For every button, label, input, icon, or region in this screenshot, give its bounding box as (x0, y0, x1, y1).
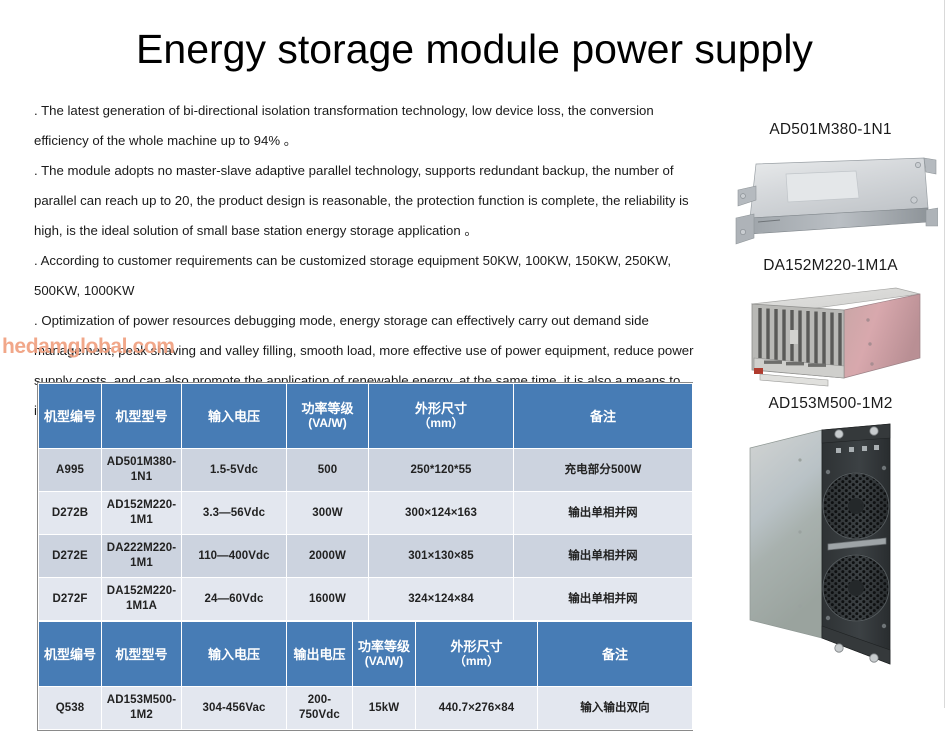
product-photo-ad153m500 (712, 416, 949, 678)
column-header-main: 输入电压 (208, 409, 260, 424)
description-paragraph: . The latest generation of bi-directiona… (34, 96, 706, 156)
column-header-sub: （mm） (418, 654, 535, 669)
product-label: DA152M220-1M1A (712, 254, 949, 278)
column-header: 备注 (514, 384, 693, 449)
column-header: 输入电压 (182, 622, 287, 687)
cell-model-code: D272B (39, 492, 102, 535)
cell-power-rating: 15kW (353, 687, 416, 730)
column-header-sub: (VA/W) (289, 416, 366, 431)
description-block: . The latest generation of bi-directiona… (34, 96, 706, 426)
column-header: 输出电压 (287, 622, 353, 687)
cell-power-rating: 1600W (287, 578, 369, 621)
cell-dimensions: 301×130×85 (369, 535, 514, 578)
product-item: AD501M380-1N1 (712, 118, 949, 252)
column-header: 外形尺寸 （mm） (416, 622, 538, 687)
column-header-sub: (VA/W) (355, 654, 413, 669)
column-header-main: 机型编号 (44, 647, 96, 662)
column-header: 功率等级 (VA/W) (353, 622, 416, 687)
cell-dimensions: 324×124×84 (369, 578, 514, 621)
column-header-main: 机型型号 (115, 647, 167, 662)
spec-table-two: 机型编号 机型型号 输入电压 输出电压 功率等级 (VA/W) (38, 621, 693, 730)
cell-model-type: AD501M380-1N1 (102, 449, 182, 492)
cell-dimensions: 250*120*55 (369, 449, 514, 492)
description-paragraph: . The module adopts no master-slave adap… (34, 156, 706, 246)
cell-remarks: 输出单相并网 (514, 492, 693, 535)
table-header-row: 机型编号 机型型号 输入电压 功率等级 (VA/W) 外形尺寸 （mm (39, 384, 693, 449)
product-photo-ad501m380 (712, 142, 949, 252)
cell-input-voltage: 24—60Vdc (182, 578, 287, 621)
column-header-main: 备注 (602, 647, 628, 662)
product-photo-da152m220 (712, 278, 949, 390)
column-header-main: 机型编号 (44, 409, 96, 424)
cell-remarks: 充电部分500W (514, 449, 693, 492)
cell-input-voltage: 1.5-5Vdc (182, 449, 287, 492)
cell-dimensions: 300×124×163 (369, 492, 514, 535)
column-header-main: 功率等级 (358, 639, 410, 654)
product-gallery: AD501M380-1N1 (712, 118, 949, 680)
column-header-main: 外形尺寸 (415, 401, 467, 416)
product-item: DA152M220-1M1A (712, 254, 949, 390)
column-header: 输入电压 (182, 384, 287, 449)
product-label: AD153M500-1M2 (712, 392, 949, 416)
cell-model-type: AD153M500-1M2 (102, 687, 182, 730)
column-header-main: 备注 (590, 409, 616, 424)
cell-model-type: DA222M220-1M1 (102, 535, 182, 578)
table-row: Q538 AD153M500-1M2 304-456Vac 200-750Vdc… (39, 687, 693, 730)
cell-dimensions: 440.7×276×84 (416, 687, 538, 730)
cell-power-rating: 300W (287, 492, 369, 535)
cell-input-voltage: 110—400Vdc (182, 535, 287, 578)
cell-input-voltage: 3.3—56Vdc (182, 492, 287, 535)
cell-model-code: D272E (39, 535, 102, 578)
cell-remarks: 输出单相并网 (514, 578, 693, 621)
column-header: 功率等级 (VA/W) (287, 384, 369, 449)
column-header-main: 输出电压 (293, 647, 345, 662)
column-header: 外形尺寸 （mm） (369, 384, 514, 449)
cell-power-rating: 500 (287, 449, 369, 492)
cell-model-code: D272F (39, 578, 102, 621)
column-header-main: 机型型号 (115, 409, 167, 424)
column-header: 机型型号 (102, 622, 182, 687)
table-row: D272E DA222M220-1M1 110—400Vdc 2000W 301… (39, 535, 693, 578)
spec-table-one: 机型编号 机型型号 输入电压 功率等级 (VA/W) 外形尺寸 （mm (38, 383, 693, 621)
spec-tables: 机型编号 机型型号 输入电压 功率等级 (VA/W) 外形尺寸 （mm (37, 382, 693, 731)
product-item: AD153M500-1M2 (712, 392, 949, 678)
table-header-row: 机型编号 机型型号 输入电压 输出电压 功率等级 (VA/W) (39, 622, 693, 687)
column-header-main: 输入电压 (208, 647, 260, 662)
cell-model-code: A995 (39, 449, 102, 492)
right-edge-divider (944, 0, 945, 708)
cell-model-type: DA152M220-1M1A (102, 578, 182, 621)
rectifier-module-image (724, 286, 939, 390)
column-header-main: 功率等级 (301, 401, 353, 416)
cell-model-type: AD152M220-1M1 (102, 492, 182, 535)
fan-front-module-image (722, 420, 940, 672)
column-header-sub: （mm） (371, 416, 511, 431)
product-label: AD501M380-1N1 (712, 118, 949, 142)
rack-tray-module-image (728, 156, 938, 251)
cell-remarks: 输出单相并网 (514, 535, 693, 578)
column-header: 机型编号 (39, 622, 102, 687)
page-title: Energy storage module power supply (0, 26, 949, 73)
table-row: A995 AD501M380-1N1 1.5-5Vdc 500 250*120*… (39, 449, 693, 492)
column-header: 备注 (538, 622, 693, 687)
cell-remarks: 输入输出双向 (538, 687, 693, 730)
column-header: 机型编号 (39, 384, 102, 449)
table-row: D272F DA152M220-1M1A 24—60Vdc 1600W 324×… (39, 578, 693, 621)
cell-input-voltage: 304-456Vac (182, 687, 287, 730)
cell-output-voltage: 200-750Vdc (287, 687, 353, 730)
description-paragraph: . According to customer requirements can… (34, 246, 706, 306)
cell-model-code: Q538 (39, 687, 102, 730)
table-row: D272B AD152M220-1M1 3.3—56Vdc 300W 300×1… (39, 492, 693, 535)
column-header: 机型型号 (102, 384, 182, 449)
cell-power-rating: 2000W (287, 535, 369, 578)
column-header-main: 外形尺寸 (450, 639, 502, 654)
